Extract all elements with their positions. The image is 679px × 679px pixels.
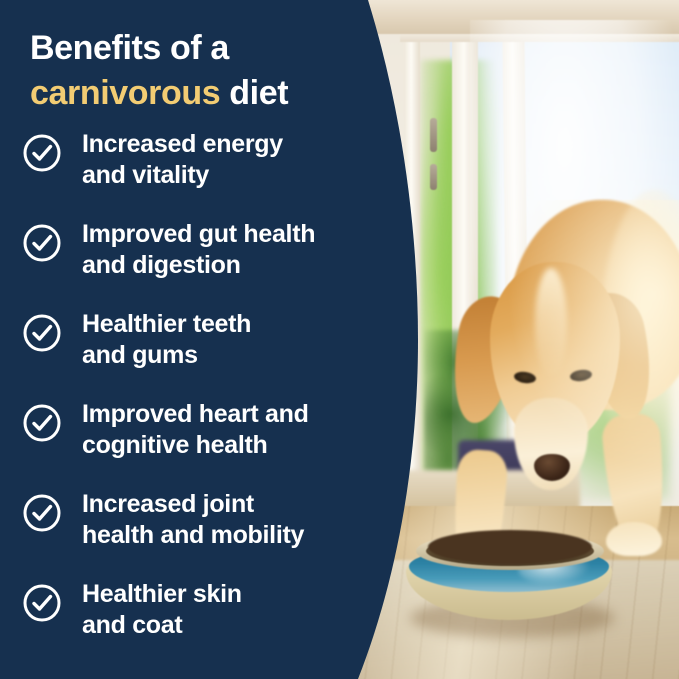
check-circle-icon	[22, 493, 62, 533]
title-line-1: Benefits of a	[30, 29, 229, 67]
list-item: Improved heart and cognitive health	[22, 402, 382, 492]
check-circle-icon	[22, 133, 62, 173]
list-item-label: Improved gut health and digestion	[82, 219, 315, 281]
title-line-2-rest: diet	[220, 74, 288, 112]
list-item-label: Healthier teeth and gums	[82, 309, 251, 371]
benefits-list: Increased energy and vitality Improved g…	[22, 132, 382, 672]
check-circle-icon	[22, 223, 62, 263]
list-item: Healthier skin and coat	[22, 582, 382, 672]
list-item-label: Healthier skin and coat	[82, 579, 242, 641]
list-item: Increased energy and vitality	[22, 132, 382, 222]
page-title: Benefits of a carnivorous diet	[30, 26, 370, 116]
title-accent-word: carnivorous	[30, 74, 220, 112]
benefits-poster: Benefits of a carnivorous diet Increased…	[0, 0, 679, 679]
list-item: Improved gut health and digestion	[22, 222, 382, 312]
check-circle-icon	[22, 313, 62, 353]
check-circle-icon	[22, 403, 62, 443]
list-item-label: Improved heart and cognitive health	[82, 399, 309, 461]
list-item: Healthier teeth and gums	[22, 312, 382, 402]
list-item-label: Increased energy and vitality	[82, 129, 283, 191]
check-circle-icon	[22, 583, 62, 623]
content-column: Benefits of a carnivorous diet Increased…	[0, 0, 400, 679]
list-item: Increased joint health and mobility	[22, 492, 382, 582]
list-item-label: Increased joint health and mobility	[82, 489, 304, 551]
